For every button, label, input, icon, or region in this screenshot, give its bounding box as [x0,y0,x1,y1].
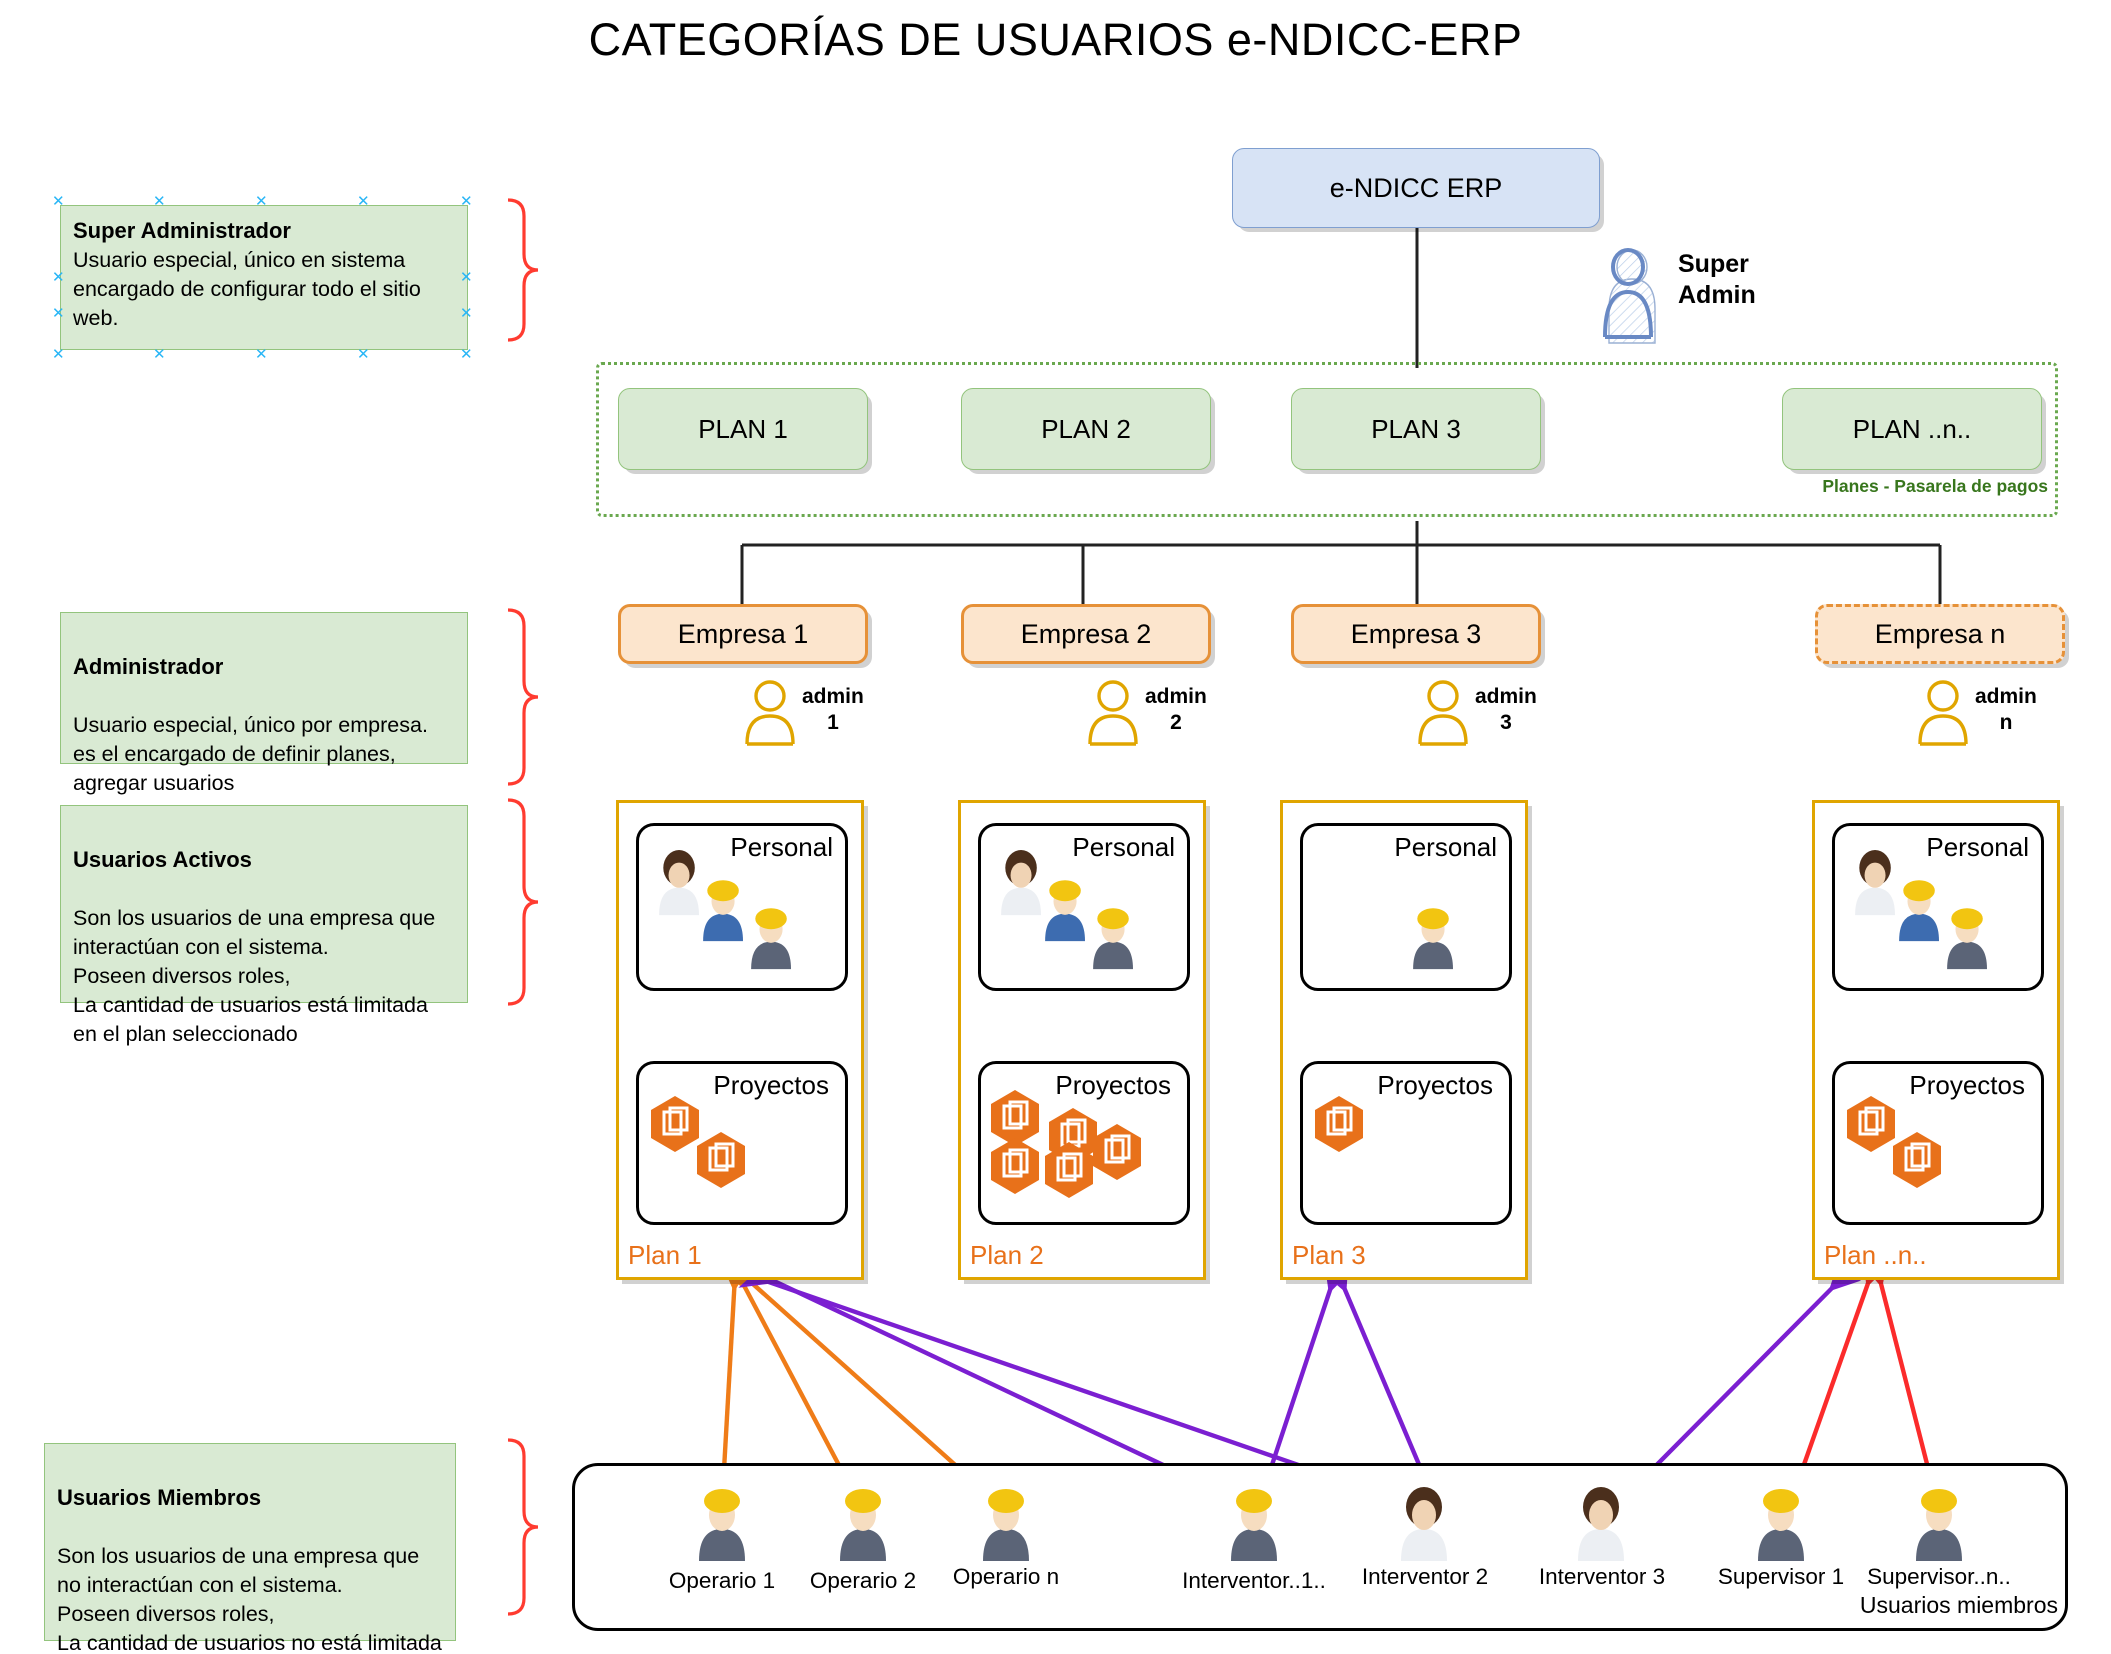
company-box-3[interactable]: Empresa 3 [1291,604,1541,664]
handle-icon[interactable]: ✕ [460,273,469,282]
office-avatar-icon [1570,1485,1632,1563]
plan-tag: Plan 1 [628,1240,702,1271]
handle-icon[interactable]: ✕ [52,309,61,318]
handle-icon[interactable]: ✕ [357,350,366,359]
node-endicc-erp[interactable]: e-NDICC ERP [1232,148,1600,228]
company-box-2[interactable]: Empresa 2 [961,604,1211,664]
company-label: Empresa 1 [678,619,809,650]
user-person-icon [1600,245,1672,353]
handle-icon[interactable]: ✕ [255,197,264,206]
handle-icon[interactable]: ✕ [357,197,366,206]
plan-label: PLAN 1 [698,414,788,445]
personal-avatars-icon [1303,826,1513,991]
admin-label: admin 3 [1475,684,1537,736]
plan-box-2[interactable]: PLAN 2 [961,388,1211,470]
admin-line1: admin [802,684,864,710]
handle-icon[interactable]: ✕ [460,350,469,359]
legend-administrador: Administrador Usuario especial, único po… [60,612,468,764]
plan-tag: Plan ..n.. [1824,1240,1927,1271]
handle-icon[interactable]: ✕ [460,197,469,206]
project-hexagons-icon [1303,1064,1513,1224]
plan-column-2: Personal Proyecto [958,800,1206,1280]
handle-icon[interactable]: ✕ [52,273,61,282]
project-hexagons-icon [1835,1064,2045,1224]
personal-avatars-icon [639,826,849,991]
admin-label: admin n [1975,684,2037,736]
admin-user-icon [1083,680,1143,746]
legend-body: Usuario especial, único por empresa. es … [73,713,428,795]
worker-avatar-icon [1223,1485,1285,1563]
legend-usuarios-activos: Usuarios Activos Son los usuarios de una… [60,805,468,1003]
worker-avatar-icon [691,1485,753,1563]
personal-avatars-icon [981,826,1191,991]
super-admin-group: Super Admin [1600,245,1830,355]
plan-tag: Plan 2 [970,1240,1044,1271]
node-label: e-NDICC ERP [1330,173,1503,204]
admin-user-icon [740,680,800,746]
member-name: Operario 1 [651,1568,793,1594]
handle-icon[interactable]: ✕ [153,197,162,206]
plans-caption: Planes - Pasarela de pagos [1788,476,2048,497]
member-supervisor-1[interactable] [1750,1485,1812,1563]
plan-column-1: Personal [616,800,864,1280]
proyectos-box: Proyectos [636,1061,848,1225]
super-admin-line2: Admin [1678,280,1756,311]
plan-box-n[interactable]: PLAN ..n.. [1782,388,2042,470]
company-admin-1: admin 1 [740,680,910,750]
worker-avatar-icon [1908,1485,1970,1563]
company-admin-2: admin 2 [1083,680,1253,750]
proyectos-box: Proyectos [978,1061,1190,1225]
admin-line1: admin [1975,684,2037,710]
super-admin-label: Super Admin [1678,249,1756,311]
admin-line2: 3 [1475,710,1537,736]
personal-box: Personal [636,823,848,991]
personal-box: Personal [1300,823,1512,991]
member-name: Supervisor..n.. [1853,1564,2025,1590]
worker-avatar-icon [975,1485,1037,1563]
plan-column-3: Personal Proyectos Plan 3 [1280,800,1528,1280]
personal-box: Personal [1832,823,2044,991]
legend-usuarios-miembros: Usuarios Miembros Son los usuarios de un… [44,1443,456,1641]
plan-label: PLAN ..n.. [1853,414,1972,445]
legend-heading: Administrador [73,652,455,682]
selection-handles: ✕ ✕ ✕ ✕ ✕ ✕ ✕ ✕ ✕ ✕ ✕ ✕ ✕ ✕ [52,197,476,358]
handle-icon[interactable]: ✕ [153,350,162,359]
members-caption: Usuarios miembros [1718,1592,2058,1619]
plan-box-3[interactable]: PLAN 3 [1291,388,1541,470]
company-admin-n: admin n [1913,680,2083,750]
personal-avatars-icon [1835,826,2045,991]
office-avatar-icon [1393,1485,1455,1563]
member-name: Interventor..1.. [1168,1568,1340,1594]
admin-label: admin 1 [802,684,864,736]
handle-icon[interactable]: ✕ [52,197,61,206]
admin-line2: 1 [802,710,864,736]
legend-heading: Usuarios Activos [73,845,455,875]
worker-avatar-icon [832,1485,894,1563]
member-interventor-3[interactable] [1570,1485,1632,1563]
super-admin-line1: Super [1678,249,1756,280]
member-interventor-1[interactable] [1223,1485,1285,1563]
plan-label: PLAN 3 [1371,414,1461,445]
admin-line2: n [1975,710,2037,736]
admin-line1: admin [1475,684,1537,710]
project-hexagons-icon [639,1064,849,1224]
plan-tag: Plan 3 [1292,1240,1366,1271]
handle-icon[interactable]: ✕ [460,309,469,318]
diagram-canvas: CATEGORÍAS DE USUARIOS e-NDICC-ERP [0,0,2111,1654]
member-name: Operario 2 [792,1568,934,1594]
admin-label: admin 2 [1145,684,1207,736]
admin-user-icon [1913,680,1973,746]
member-name: Interventor 3 [1516,1564,1688,1590]
company-box-1[interactable]: Empresa 1 [618,604,868,664]
legend-body: Son los usuarios de una empresa que no i… [57,1544,442,1654]
member-interventor-2[interactable] [1393,1485,1455,1563]
admin-line2: 2 [1145,710,1207,736]
plan-column-n: Personal Proyecto [1812,800,2060,1280]
plan-box-1[interactable]: PLAN 1 [618,388,868,470]
member-operario-2[interactable] [832,1485,894,1563]
handle-icon[interactable]: ✕ [255,350,264,359]
member-supervisor-n[interactable] [1908,1485,1970,1563]
personal-box: Personal [978,823,1190,991]
plan-label: PLAN 2 [1041,414,1131,445]
worker-avatar-icon [1750,1485,1812,1563]
company-label: Empresa 3 [1351,619,1482,650]
admin-user-icon [1413,680,1473,746]
company-label: Empresa 2 [1021,619,1152,650]
legend-heading: Usuarios Miembros [57,1483,443,1513]
brace-group [508,200,538,1614]
page-title: CATEGORÍAS DE USUARIOS e-NDICC-ERP [0,14,2111,66]
proyectos-box: Proyectos [1832,1061,2044,1225]
member-operario-n[interactable] [975,1485,1037,1563]
handle-icon[interactable]: ✕ [52,350,61,359]
proyectos-box: Proyectos [1300,1061,1512,1225]
member-name: Supervisor 1 [1695,1564,1867,1590]
company-admin-3: admin 3 [1413,680,1583,750]
company-label: Empresa n [1875,619,2006,650]
project-hexagons-icon [981,1064,1191,1224]
member-name: Interventor 2 [1339,1564,1511,1590]
legend-body: Son los usuarios de una empresa que inte… [73,906,435,1046]
member-operario-1[interactable] [691,1485,753,1563]
admin-line1: admin [1145,684,1207,710]
company-box-n[interactable]: Empresa n [1815,604,2065,664]
member-name: Operario n [935,1564,1077,1590]
